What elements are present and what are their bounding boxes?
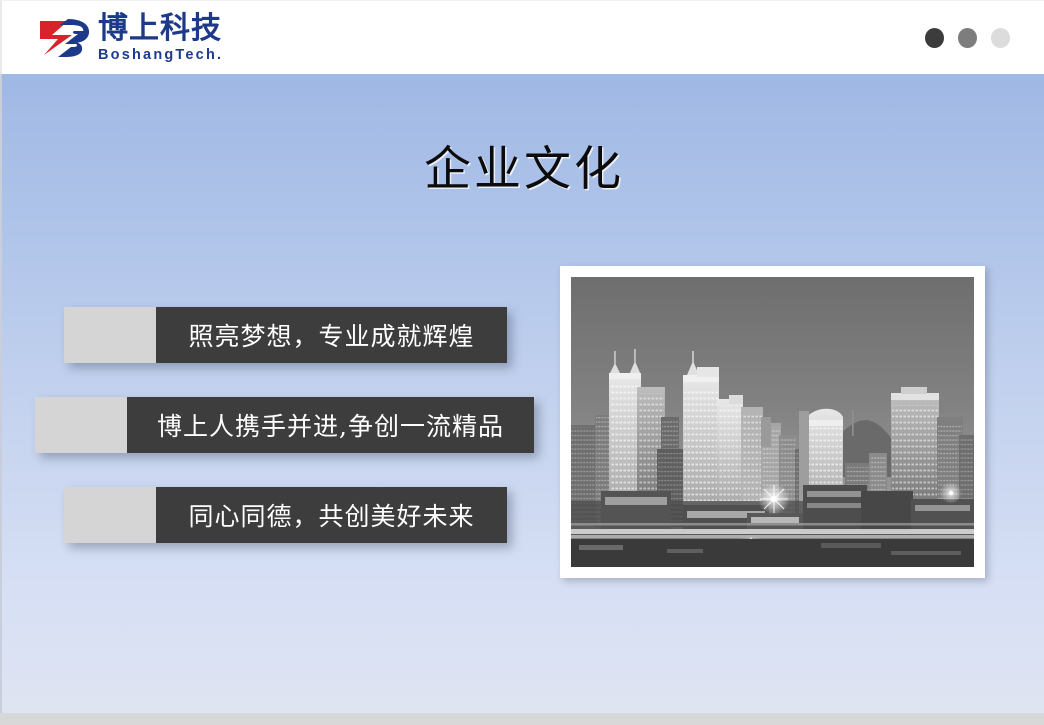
slide-canvas: 企业文化 照亮梦想，专业成就辉煌 博上人携手并进,争创一流精品 同心同德，共创美…	[0, 74, 1044, 713]
company-logo[interactable]: 博上科技 BoshangTech.	[38, 12, 223, 64]
logo-company-name-en: BoshangTech.	[98, 48, 223, 63]
logo-company-name-cn: 博上科技	[98, 14, 223, 45]
slogan-bar-2-block	[35, 397, 127, 453]
slogan-bar-3-body: 同心同德，共创美好未来	[156, 487, 507, 543]
slogan-bar-2: 博上人携手并进,争创一流精品	[35, 397, 534, 453]
slogan-bar-1: 照亮梦想，专业成就辉煌	[64, 307, 507, 363]
boshang-bs-monogram-icon	[38, 17, 92, 59]
slogan-bar-1-body: 照亮梦想，专业成就辉煌	[156, 307, 507, 363]
city-skyline-night-photo-graphic	[571, 277, 974, 567]
header-dot-group	[925, 28, 1010, 48]
city-skyline-night-photo	[571, 277, 974, 567]
header-dot-1	[925, 28, 944, 48]
slide-footer-strip	[0, 713, 1044, 725]
slide: 博上科技 BoshangTech. 企业文化 照亮梦想，专业成就辉煌 博上人携手…	[0, 0, 1044, 725]
slogan-bar-2-text: 博上人携手并进,争创一流精品	[157, 407, 504, 443]
slogan-bar-1-text: 照亮梦想，专业成就辉煌	[188, 317, 474, 353]
slogan-bar-3: 同心同德，共创美好未来	[64, 487, 507, 543]
page-title: 企业文化	[2, 130, 1044, 199]
header-dot-3	[991, 28, 1010, 48]
logo-wordmark: 博上科技 BoshangTech.	[98, 14, 223, 62]
slogan-bar-1-block	[64, 307, 156, 363]
slogan-bar-3-block	[64, 487, 156, 543]
photo-frame	[560, 266, 985, 578]
slogan-bar-3-text: 同心同德，共创美好未来	[188, 497, 474, 533]
header-dot-2	[958, 28, 977, 48]
slogan-bar-2-body: 博上人携手并进,争创一流精品	[127, 397, 534, 453]
slide-header: 博上科技 BoshangTech.	[0, 0, 1044, 74]
